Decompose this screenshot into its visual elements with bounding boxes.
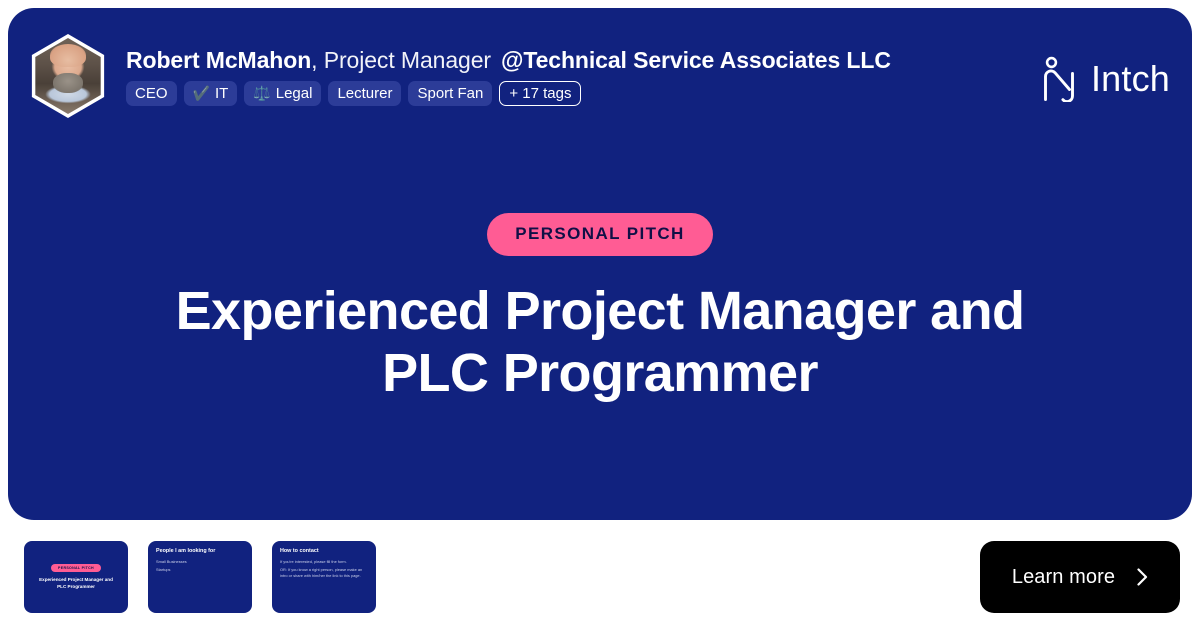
tag-sport-fan[interactable]: Sport Fan [408, 81, 492, 106]
chevron-right-icon [1137, 568, 1148, 586]
thumbnail-how-to-contact[interactable]: How to contact If you're interested, ple… [272, 541, 376, 613]
scales-icon: ⚖️ [253, 86, 270, 100]
pitch-block: PERSONAL PITCH Experienced Project Manag… [8, 213, 1192, 404]
tag-label: CEO [135, 81, 168, 106]
thumbnail-line: OR: If you know a right person, please m… [280, 567, 368, 578]
profile-header: Robert McMahon, Project Manager@Technica… [26, 34, 891, 118]
thumbnail-content: PERSONAL PITCH Experienced Project Manag… [32, 548, 120, 606]
profile-role: , Project Manager [311, 47, 491, 73]
pitch-badge: PERSONAL PITCH [487, 213, 712, 256]
profile-tag-row: CEO ✔️ IT ⚖️ Legal Lecturer Sport Fan [126, 81, 891, 106]
pitch-title: Experienced Project Manager and PLC Prog… [150, 280, 1050, 404]
bottom-bar: PERSONAL PITCH Experienced Project Manag… [0, 528, 1200, 627]
tag-label: Sport Fan [417, 81, 483, 106]
tag-more-tags[interactable]: + 17 tags [499, 81, 581, 106]
thumbnail-title: Experienced Project Manager and PLC Prog… [36, 577, 116, 590]
brand-name: Intch [1091, 61, 1170, 97]
thumbnail-heading: How to contact [280, 548, 368, 555]
tag-label: Legal [276, 81, 313, 106]
tag-label: IT [215, 81, 228, 106]
intch-n-monogram-icon [1039, 56, 1079, 102]
avatar[interactable] [26, 34, 110, 118]
brand-lockup[interactable]: Intch [1039, 56, 1170, 102]
thumbnail-people-looking-for[interactable]: People I am looking for Small Businesses… [148, 541, 252, 613]
profile-name: Robert McMahon [126, 47, 311, 73]
tag-lecturer[interactable]: Lecturer [328, 81, 401, 106]
tag-label: Lecturer [337, 81, 392, 106]
learn-more-label: Learn more [1012, 566, 1115, 589]
profile-name-line: Robert McMahon, Project Manager@Technica… [126, 47, 891, 74]
tag-label: + 17 tags [509, 81, 571, 106]
thumbnail-line: Small Businesses [156, 559, 244, 564]
slide-thumbnails: PERSONAL PITCH Experienced Project Manag… [24, 541, 376, 613]
thumbnail-line: Startups [156, 567, 244, 572]
thumbnail-line: If you're interested, please fill the fo… [280, 559, 368, 564]
profile-text: Robert McMahon, Project Manager@Technica… [126, 47, 891, 106]
thumbnail-badge: PERSONAL PITCH [51, 564, 101, 572]
learn-more-button[interactable]: Learn more [980, 541, 1180, 613]
check-mark-icon: ✔️ [193, 86, 210, 100]
profile-company: @Technical Service Associates LLC [501, 47, 891, 73]
hero-card: Robert McMahon, Project Manager@Technica… [8, 8, 1192, 520]
tag-ceo[interactable]: CEO [126, 81, 177, 106]
tag-legal[interactable]: ⚖️ Legal [244, 81, 321, 106]
tag-it[interactable]: ✔️ IT [184, 81, 238, 106]
pitch-share-card: Robert McMahon, Project Manager@Technica… [0, 0, 1200, 627]
thumbnail-personal-pitch[interactable]: PERSONAL PITCH Experienced Project Manag… [24, 541, 128, 613]
avatar-photo [30, 38, 106, 114]
thumbnail-heading: People I am looking for [156, 548, 244, 555]
